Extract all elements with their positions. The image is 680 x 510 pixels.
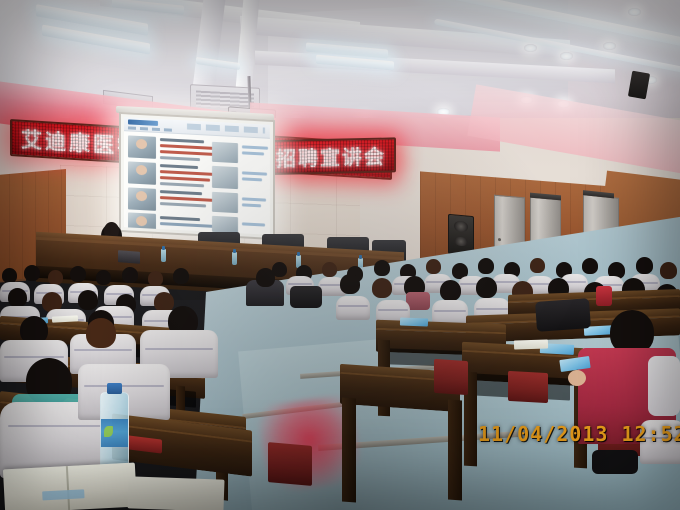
slide-text-line (242, 222, 265, 226)
downlight (524, 44, 537, 52)
slide-photo-thumb (128, 161, 156, 184)
downlight (603, 42, 616, 50)
slide-text-line (242, 171, 267, 175)
seat-cushion[interactable] (434, 359, 468, 395)
seat-cushion[interactable] (268, 442, 312, 486)
projection-screen (119, 112, 275, 240)
attendee-head (476, 277, 497, 298)
attendee-head (122, 267, 138, 283)
notebook-spine (66, 466, 70, 510)
slide-photo-thumb (128, 135, 156, 158)
slide-text-line (160, 196, 218, 202)
seat-back[interactable] (336, 296, 370, 320)
slide-photo-thumb (212, 192, 238, 213)
attendee-head (2, 268, 17, 283)
black-backpack (290, 286, 322, 308)
attendee-head (478, 258, 494, 274)
attendee-head (8, 288, 27, 307)
slide-text-line (160, 164, 198, 169)
downlight (628, 8, 641, 16)
slide-photo-thumb (128, 187, 156, 210)
door-knob (498, 238, 501, 241)
paper-handout[interactable] (514, 339, 548, 349)
blue-brochure[interactable] (400, 318, 428, 327)
bottle-label (101, 419, 128, 447)
wall-speaker (628, 71, 650, 100)
attendee-head (582, 258, 598, 274)
attendee-head (256, 268, 275, 287)
slide-text-line (242, 145, 268, 149)
seat-cushion[interactable] (508, 371, 548, 403)
attendee-head (70, 266, 86, 282)
bottle-cap (107, 383, 122, 394)
attendee-head (426, 259, 441, 274)
slide-text-line (160, 156, 200, 161)
presenter-laptop (118, 250, 140, 264)
speaker-cone (454, 236, 468, 246)
slide-photo-thumb (212, 166, 238, 189)
attendee-head (322, 262, 337, 277)
slide-text-line (160, 182, 204, 187)
slide-text-line (160, 216, 200, 221)
attendee-shoe (592, 450, 638, 474)
slide-photo-thumb (212, 216, 238, 233)
attendee-head (660, 262, 677, 279)
desk-leg (448, 400, 462, 501)
attendee-head (372, 278, 392, 298)
open-notebook[interactable] (3, 463, 137, 510)
attendee-head (374, 260, 390, 276)
attendee-head (340, 274, 360, 294)
slide-text-line (160, 150, 214, 156)
black-backpack (535, 298, 591, 332)
camera-timestamp: 11/04/2013 12:52 (478, 422, 680, 446)
attendee-head (636, 257, 653, 274)
speaker-cone (454, 220, 468, 232)
lecture-hall-photograph: 艾迪康医学 招聘宣讲会 (0, 0, 680, 510)
banner-text-right: 招聘宣讲会 (276, 140, 394, 171)
slide-text-line (160, 202, 206, 207)
water-bottle (161, 249, 166, 262)
downlight (560, 52, 573, 60)
attendee-head (440, 280, 461, 301)
slide-text-line (242, 203, 261, 207)
slide-text-line (160, 176, 210, 182)
attendee-hand (568, 370, 586, 386)
attendee-head (173, 268, 189, 284)
slide-text-line (160, 170, 220, 176)
attendee-head (148, 271, 163, 286)
slide-photo-thumb (212, 142, 238, 163)
attendee-head (78, 290, 98, 310)
paper-stack[interactable] (127, 476, 224, 510)
attendee-head (530, 258, 545, 273)
attendee-head (86, 318, 116, 348)
water-bottle-foreground[interactable] (100, 392, 129, 472)
attendee-head (96, 270, 111, 285)
water-bottle (232, 252, 237, 265)
slide-text-line (160, 222, 216, 228)
desk-leg (342, 398, 356, 503)
attendee-head (154, 292, 174, 312)
slide-text-line (160, 138, 204, 143)
attendee-head (24, 265, 40, 281)
slide-text-line (242, 151, 264, 155)
slide-text-line (242, 197, 266, 201)
slide-text-line (160, 190, 202, 195)
slide-photo-thumb (128, 212, 156, 234)
attendee-shoulder (648, 356, 680, 416)
notebook-highlight (42, 489, 84, 500)
projected-slide (124, 117, 270, 235)
attendee-head (48, 270, 63, 285)
red-cup (596, 286, 612, 306)
slide-text-line (242, 177, 262, 181)
